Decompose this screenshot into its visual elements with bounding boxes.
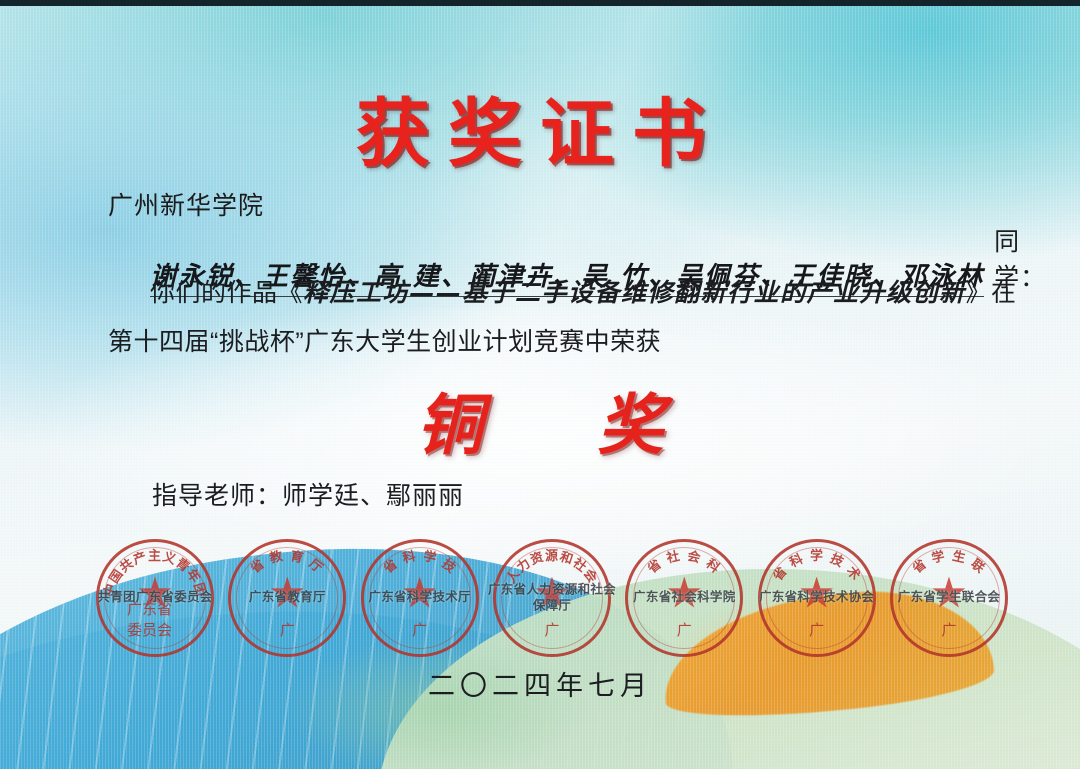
- seal-label: 广东省教育厅: [219, 590, 355, 606]
- advisors-label: 指导老师：: [152, 482, 282, 510]
- seal-arc-text: 省 科 学 技: [379, 548, 459, 578]
- certificate-page: 获奖证书 广州新华学院 谢永锐、王馨怡、高 建、蔺津卉、吴 竹、吴佩芬、王佳晓、…: [0, 0, 1080, 769]
- seal-label: 广东省人力资源和社会保障厅: [484, 582, 620, 613]
- recipient-organization: 广州新华学院: [108, 186, 264, 222]
- work-statement-line: 你们的作品《释压工坊——基于二手设备维修翻新行业的产业升级创新》在: [150, 273, 1020, 309]
- seal-science-technology-department: 省 科 学 技 广东省科学技术厅 广: [361, 539, 479, 657]
- seal-bottom-mark: 广: [941, 619, 956, 640]
- seal-label: 广东省学生联合会: [881, 590, 1017, 606]
- seal-bottom-mark: 广: [412, 619, 427, 640]
- seal-label: 广东省科学技术协会: [749, 590, 885, 606]
- competition-statement: 第十四届“挑战杯”广东大学生创业计划竞赛中荣获: [108, 322, 1020, 358]
- seal-arc-text: 省 学 生 联: [909, 548, 988, 578]
- official-seals-row: 中国共产主义青年团 共青团广东省委员会 广东省委员会 省 教 育 厅: [96, 538, 1008, 658]
- advisors-names: 师学廷、鄢丽丽: [282, 482, 464, 510]
- work-statement-suffix: 》在: [966, 279, 1017, 307]
- seal-bottom-mark: 广: [677, 619, 692, 640]
- seal-arc-text: 省 教 育 厅: [247, 548, 326, 578]
- award-level: 铜 奖: [0, 372, 1080, 468]
- seal-label: 广东省社会科学院: [616, 590, 752, 606]
- seal-label: 广东省科学技术厅: [352, 590, 488, 606]
- seal-education-department: 省 教 育 厅 广东省教育厅 广: [228, 539, 346, 657]
- certificate-content: 获奖证书 广州新华学院 谢永锐、王馨怡、高 建、蔺津卉、吴 竹、吴佩芬、王佳晓、…: [0, 0, 1080, 769]
- issue-date: 二〇二四年七月: [0, 664, 1080, 703]
- seal-bottom-mark: 广东省委员会: [127, 598, 183, 640]
- seal-communist-youth-league: 中国共产主义青年团 共青团广东省委员会 广东省委员会: [96, 539, 214, 657]
- advisors-line: 指导老师：师学廷、鄢丽丽: [152, 476, 464, 512]
- seal-students-federation: 省 学 生 联 广东省学生联合会 广: [890, 539, 1008, 657]
- seal-bottom-mark: 广: [544, 619, 559, 640]
- seal-bottom-mark: 广: [809, 619, 824, 640]
- certificate-title: 获奖证书: [0, 74, 1080, 181]
- seal-bottom-mark: 广: [280, 619, 295, 640]
- seal-academy-social-sciences: 省 社 会 科 广东省社会科学院 广: [625, 539, 743, 657]
- seal-science-technology-association: 省 科 学 技 术 广东省科学技术协会 广: [758, 539, 876, 657]
- seal-human-resources-social-security: 人力资源和社会 广东省人力资源和社会保障厅 广: [493, 539, 611, 657]
- work-statement-prefix: 你们的作品《: [150, 279, 303, 307]
- seal-arc-text: 省 社 会 科: [644, 548, 724, 578]
- work-title: 释压工坊——基于二手设备维修翻新行业的产业升级创新: [303, 278, 966, 307]
